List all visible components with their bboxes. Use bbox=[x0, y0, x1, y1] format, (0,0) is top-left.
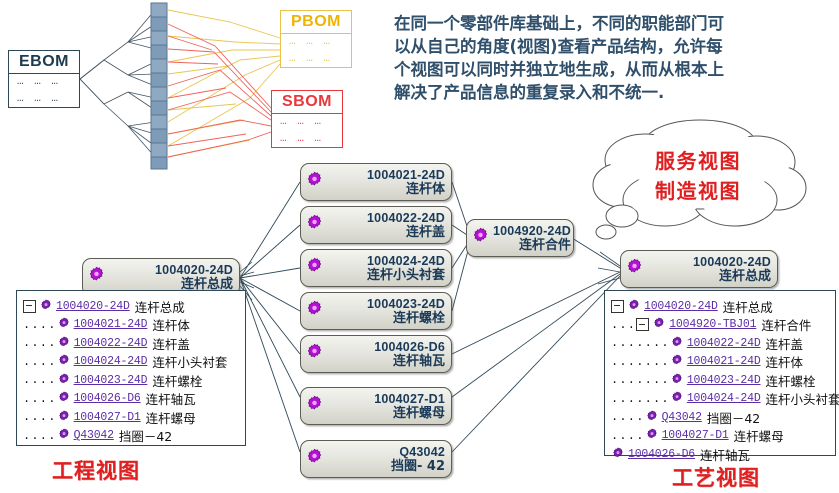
tree-item-code[interactable]: 1004022-24D bbox=[687, 337, 761, 350]
engineering-tree-row[interactable]: ....1004026-D6连杆轴瓦 bbox=[23, 390, 239, 409]
node-name: 连杆螺母 bbox=[393, 406, 445, 421]
gear-icon bbox=[472, 227, 489, 249]
tree-item-label: 连杆螺栓 bbox=[766, 371, 816, 390]
cloud-line-manufacturing: 制造视图 bbox=[607, 176, 789, 206]
gear-icon bbox=[40, 299, 52, 314]
node-part-5[interactable]: 1004026-D6 连杆轴瓦 bbox=[300, 335, 452, 373]
tree-item-code[interactable]: 1004026-D6 bbox=[628, 448, 695, 461]
tree-item-label: 连杆螺母 bbox=[146, 408, 196, 427]
tree-item-label: 连杆体 bbox=[766, 352, 804, 371]
node-code: 1004020-24D bbox=[155, 263, 233, 277]
tree-item-label: 连杆小头衬套 bbox=[766, 389, 839, 408]
node-name: 连杆总成 bbox=[719, 269, 771, 284]
gear-icon bbox=[306, 448, 323, 470]
tree-item-label: 连杆合件 bbox=[761, 315, 811, 334]
node-right-root[interactable]: 1004020-24D 连杆总成 bbox=[620, 250, 778, 288]
node-code: Q43042 bbox=[399, 445, 445, 459]
gear-icon bbox=[612, 447, 624, 462]
gear-icon bbox=[58, 373, 70, 388]
tree-indent: .... bbox=[23, 355, 57, 369]
gear-icon bbox=[671, 354, 683, 369]
gear-icon bbox=[646, 410, 658, 425]
node-code: 1004027-D1 bbox=[374, 392, 445, 406]
tree-item-label: 连杆螺栓 bbox=[152, 371, 202, 390]
description-line-3: 个视图可以同时并独立地生成，从而从根本上 bbox=[394, 58, 838, 81]
node-name: 连杆小头衬套 bbox=[367, 268, 445, 283]
tree-item-code[interactable]: Q43042 bbox=[662, 411, 702, 424]
process-tree-row[interactable]: .......1004021-24D连杆体 bbox=[611, 353, 829, 372]
ebom-title: EBOM bbox=[9, 51, 79, 74]
gear-icon bbox=[58, 391, 70, 406]
tree-item-label: 连杆小头衬套 bbox=[152, 352, 227, 371]
gear-icon bbox=[306, 395, 323, 417]
gear-icon bbox=[58, 428, 70, 443]
node-code: 1004021-24D bbox=[367, 168, 445, 182]
cloud-label: 服务视图 制造视图 bbox=[607, 146, 789, 206]
tree-indent: ....... bbox=[611, 373, 670, 387]
description-line-1: 在同一个零部件库基础上，不同的职能部门可 bbox=[394, 12, 838, 35]
process-view-caption: 工艺视图 bbox=[672, 462, 760, 492]
tree-indent: .... bbox=[611, 410, 645, 424]
node-part-1[interactable]: 1004021-24D 连杆体 bbox=[300, 163, 452, 201]
gear-icon bbox=[671, 373, 683, 388]
pbom-box[interactable]: PBOM … … … … … … bbox=[280, 10, 352, 68]
tree-indent: ....... bbox=[611, 355, 670, 369]
tree-item-label: 连杆总成 bbox=[723, 297, 773, 316]
ebom-row-2: … … … bbox=[9, 91, 79, 108]
tree-item-code[interactable]: 1004023-24D bbox=[687, 374, 761, 387]
cloud-line-service: 服务视图 bbox=[607, 146, 789, 176]
tree-expander-icon[interactable] bbox=[636, 318, 649, 331]
tree-indent: .... bbox=[23, 336, 57, 350]
process-tree-row[interactable]: ....Q43042挡圈－42 bbox=[611, 408, 829, 427]
node-code: 1004024-24D bbox=[367, 254, 445, 268]
gear-icon bbox=[306, 171, 323, 193]
pbom-row-1: … … … bbox=[281, 34, 351, 51]
node-part-2[interactable]: 1004022-24D 连杆盖 bbox=[300, 206, 452, 244]
tree-indent: .... bbox=[23, 410, 57, 424]
node-part-3[interactable]: 1004024-24D 连杆小头衬套 bbox=[300, 249, 452, 287]
process-tree-row[interactable]: .......1004022-24D连杆盖 bbox=[611, 334, 829, 353]
tree-item-code[interactable]: 1004027-D1 bbox=[662, 429, 729, 442]
description-text: 在同一个零部件库基础上，不同的职能部门可 以从自己的角度(视图)查看产品结构，允… bbox=[394, 12, 838, 104]
engineering-view-tree[interactable]: 1004020-24D连杆总成....1004021-24D连杆体....100… bbox=[16, 290, 246, 446]
gear-icon bbox=[58, 317, 70, 332]
engineering-tree-row[interactable]: ....Q43042挡圈－42 bbox=[23, 427, 239, 446]
tree-item-code[interactable]: 1004026-D6 bbox=[74, 392, 141, 405]
gear-icon bbox=[58, 410, 70, 425]
tree-item-code[interactable]: 1004920-TBJ01 bbox=[669, 318, 756, 331]
pbom-row-2: … … … bbox=[281, 51, 351, 68]
gear-icon bbox=[646, 428, 658, 443]
process-tree-row[interactable]: .......1004024-24D连杆小头衬套 bbox=[611, 390, 829, 409]
tree-item-code[interactable]: 1004021-24D bbox=[687, 355, 761, 368]
tree-item-code[interactable]: 1004027-D1 bbox=[74, 411, 141, 424]
sbom-box[interactable]: SBOM … … … … … … bbox=[271, 90, 343, 148]
diagram-canvas: 服务视图 制造视图 EBOM … … … … … … PBOM … … … … … bbox=[0, 0, 839, 493]
tree-indent: .... bbox=[23, 392, 57, 406]
tree-item-code[interactable]: 1004023-24D bbox=[74, 374, 148, 387]
node-name: 连杆合件 bbox=[519, 238, 571, 253]
description-line-2: 以从自己的角度(视图)查看产品结构，允许每 bbox=[394, 35, 838, 58]
tree-item-code[interactable]: 1004020-24D bbox=[644, 300, 718, 313]
engineering-tree-row[interactable]: 1004020-24D连杆总成 bbox=[23, 297, 239, 316]
tree-item-code[interactable]: 1004022-24D bbox=[74, 337, 148, 350]
process-tree-row[interactable]: ....1004027-D1连杆螺母 bbox=[611, 427, 829, 446]
tree-item-code[interactable]: 1004024-24D bbox=[687, 392, 761, 405]
process-tree-row[interactable]: ...1004920-TBJ01连杆合件 bbox=[611, 316, 829, 335]
tree-expander-icon[interactable] bbox=[611, 300, 624, 313]
tree-indent: .... bbox=[23, 373, 57, 387]
process-tree-row[interactable]: 1004020-24D连杆总成 bbox=[611, 297, 829, 316]
gear-icon bbox=[653, 317, 665, 332]
tree-item-code[interactable]: 1004021-24D bbox=[74, 318, 148, 331]
gear-icon bbox=[306, 214, 323, 236]
tree-item-label: 挡圈－42 bbox=[119, 426, 172, 445]
tree-indent: .... bbox=[23, 318, 57, 332]
gear-icon bbox=[88, 266, 105, 288]
process-tree-row[interactable]: .......1004023-24D连杆螺栓 bbox=[611, 371, 829, 390]
engineering-view-caption: 工程视图 bbox=[52, 455, 140, 485]
tree-indent: .... bbox=[23, 429, 57, 443]
node-center-assembly[interactable]: 1004920-24D 连杆合件 bbox=[466, 219, 574, 257]
sbom-row-2: … … … bbox=[272, 131, 342, 148]
engineering-tree-row[interactable]: ....1004023-24D连杆螺栓 bbox=[23, 371, 239, 390]
node-name: 连杆盖 bbox=[406, 225, 445, 240]
pbom-title: PBOM bbox=[281, 11, 351, 34]
tree-item-code[interactable]: 1004020-24D bbox=[56, 300, 130, 313]
node-name: 连杆体 bbox=[406, 182, 445, 197]
node-code: 1004023-24D bbox=[367, 297, 445, 311]
process-tree-row[interactable]: 1004026-D6连杆轴瓦 bbox=[611, 445, 829, 464]
engineering-tree-row[interactable]: ....1004022-24D连杆盖 bbox=[23, 334, 239, 353]
gear-icon bbox=[58, 336, 70, 351]
tree-indent: ....... bbox=[611, 392, 670, 406]
node-part-6[interactable]: 1004027-D1 连杆螺母 bbox=[300, 387, 452, 425]
tree-item-label: 连杆轴瓦 bbox=[700, 445, 750, 464]
tree-indent: ... bbox=[611, 318, 636, 332]
ebom-row-1: … … … bbox=[9, 74, 79, 91]
tree-item-label: 连杆螺母 bbox=[734, 426, 784, 445]
gear-icon bbox=[58, 354, 70, 369]
gear-icon bbox=[306, 257, 323, 279]
tree-item-label: 连杆总成 bbox=[135, 297, 185, 316]
node-part-4[interactable]: 1004023-24D 连杆螺栓 bbox=[300, 292, 452, 330]
process-view-tree[interactable]: 1004020-24D连杆总成...1004920-TBJ01连杆合件.....… bbox=[604, 290, 836, 456]
tree-item-label: 连杆轴瓦 bbox=[146, 389, 196, 408]
sbom-row-1: … … … bbox=[272, 114, 342, 131]
tree-item-label: 连杆盖 bbox=[152, 334, 190, 353]
engineering-tree-row[interactable]: ....1004027-D1连杆螺母 bbox=[23, 408, 239, 427]
engineering-tree-row[interactable]: ....1004021-24D连杆体 bbox=[23, 316, 239, 335]
tree-indent: .... bbox=[611, 429, 645, 443]
gear-icon bbox=[306, 343, 323, 365]
node-name: 连杆轴瓦 bbox=[393, 354, 445, 369]
tree-item-code[interactable]: 1004024-24D bbox=[74, 355, 148, 368]
gear-icon bbox=[306, 300, 323, 322]
node-name: 连杆螺栓 bbox=[393, 311, 445, 326]
tree-item-code[interactable]: Q43042 bbox=[74, 429, 114, 442]
gear-icon bbox=[628, 299, 640, 314]
gear-icon bbox=[671, 391, 683, 406]
tree-expander-icon[interactable] bbox=[23, 300, 36, 313]
ebom-box[interactable]: EBOM … … … … … … bbox=[8, 50, 80, 108]
node-code: 1004022-24D bbox=[367, 211, 445, 225]
node-code: 1004920-24D bbox=[493, 224, 571, 238]
node-code: 1004026-D6 bbox=[374, 340, 445, 354]
gear-icon bbox=[626, 258, 643, 280]
node-part-7[interactable]: Q43042 挡圈- 42 bbox=[300, 440, 452, 478]
node-code: 1004020-24D bbox=[693, 255, 771, 269]
description-line-4: 解决了产品信息的重复录入和不统一. bbox=[394, 81, 838, 104]
sbom-title: SBOM bbox=[272, 91, 342, 114]
engineering-tree-row[interactable]: ....1004024-24D连杆小头衬套 bbox=[23, 353, 239, 372]
gear-icon bbox=[671, 336, 683, 351]
tree-indent: ....... bbox=[611, 336, 670, 350]
node-name: 挡圈- 42 bbox=[391, 459, 445, 474]
tree-item-label: 连杆体 bbox=[152, 315, 190, 334]
tree-item-label: 连杆盖 bbox=[766, 334, 804, 353]
tree-item-label: 挡圈－42 bbox=[707, 408, 760, 427]
